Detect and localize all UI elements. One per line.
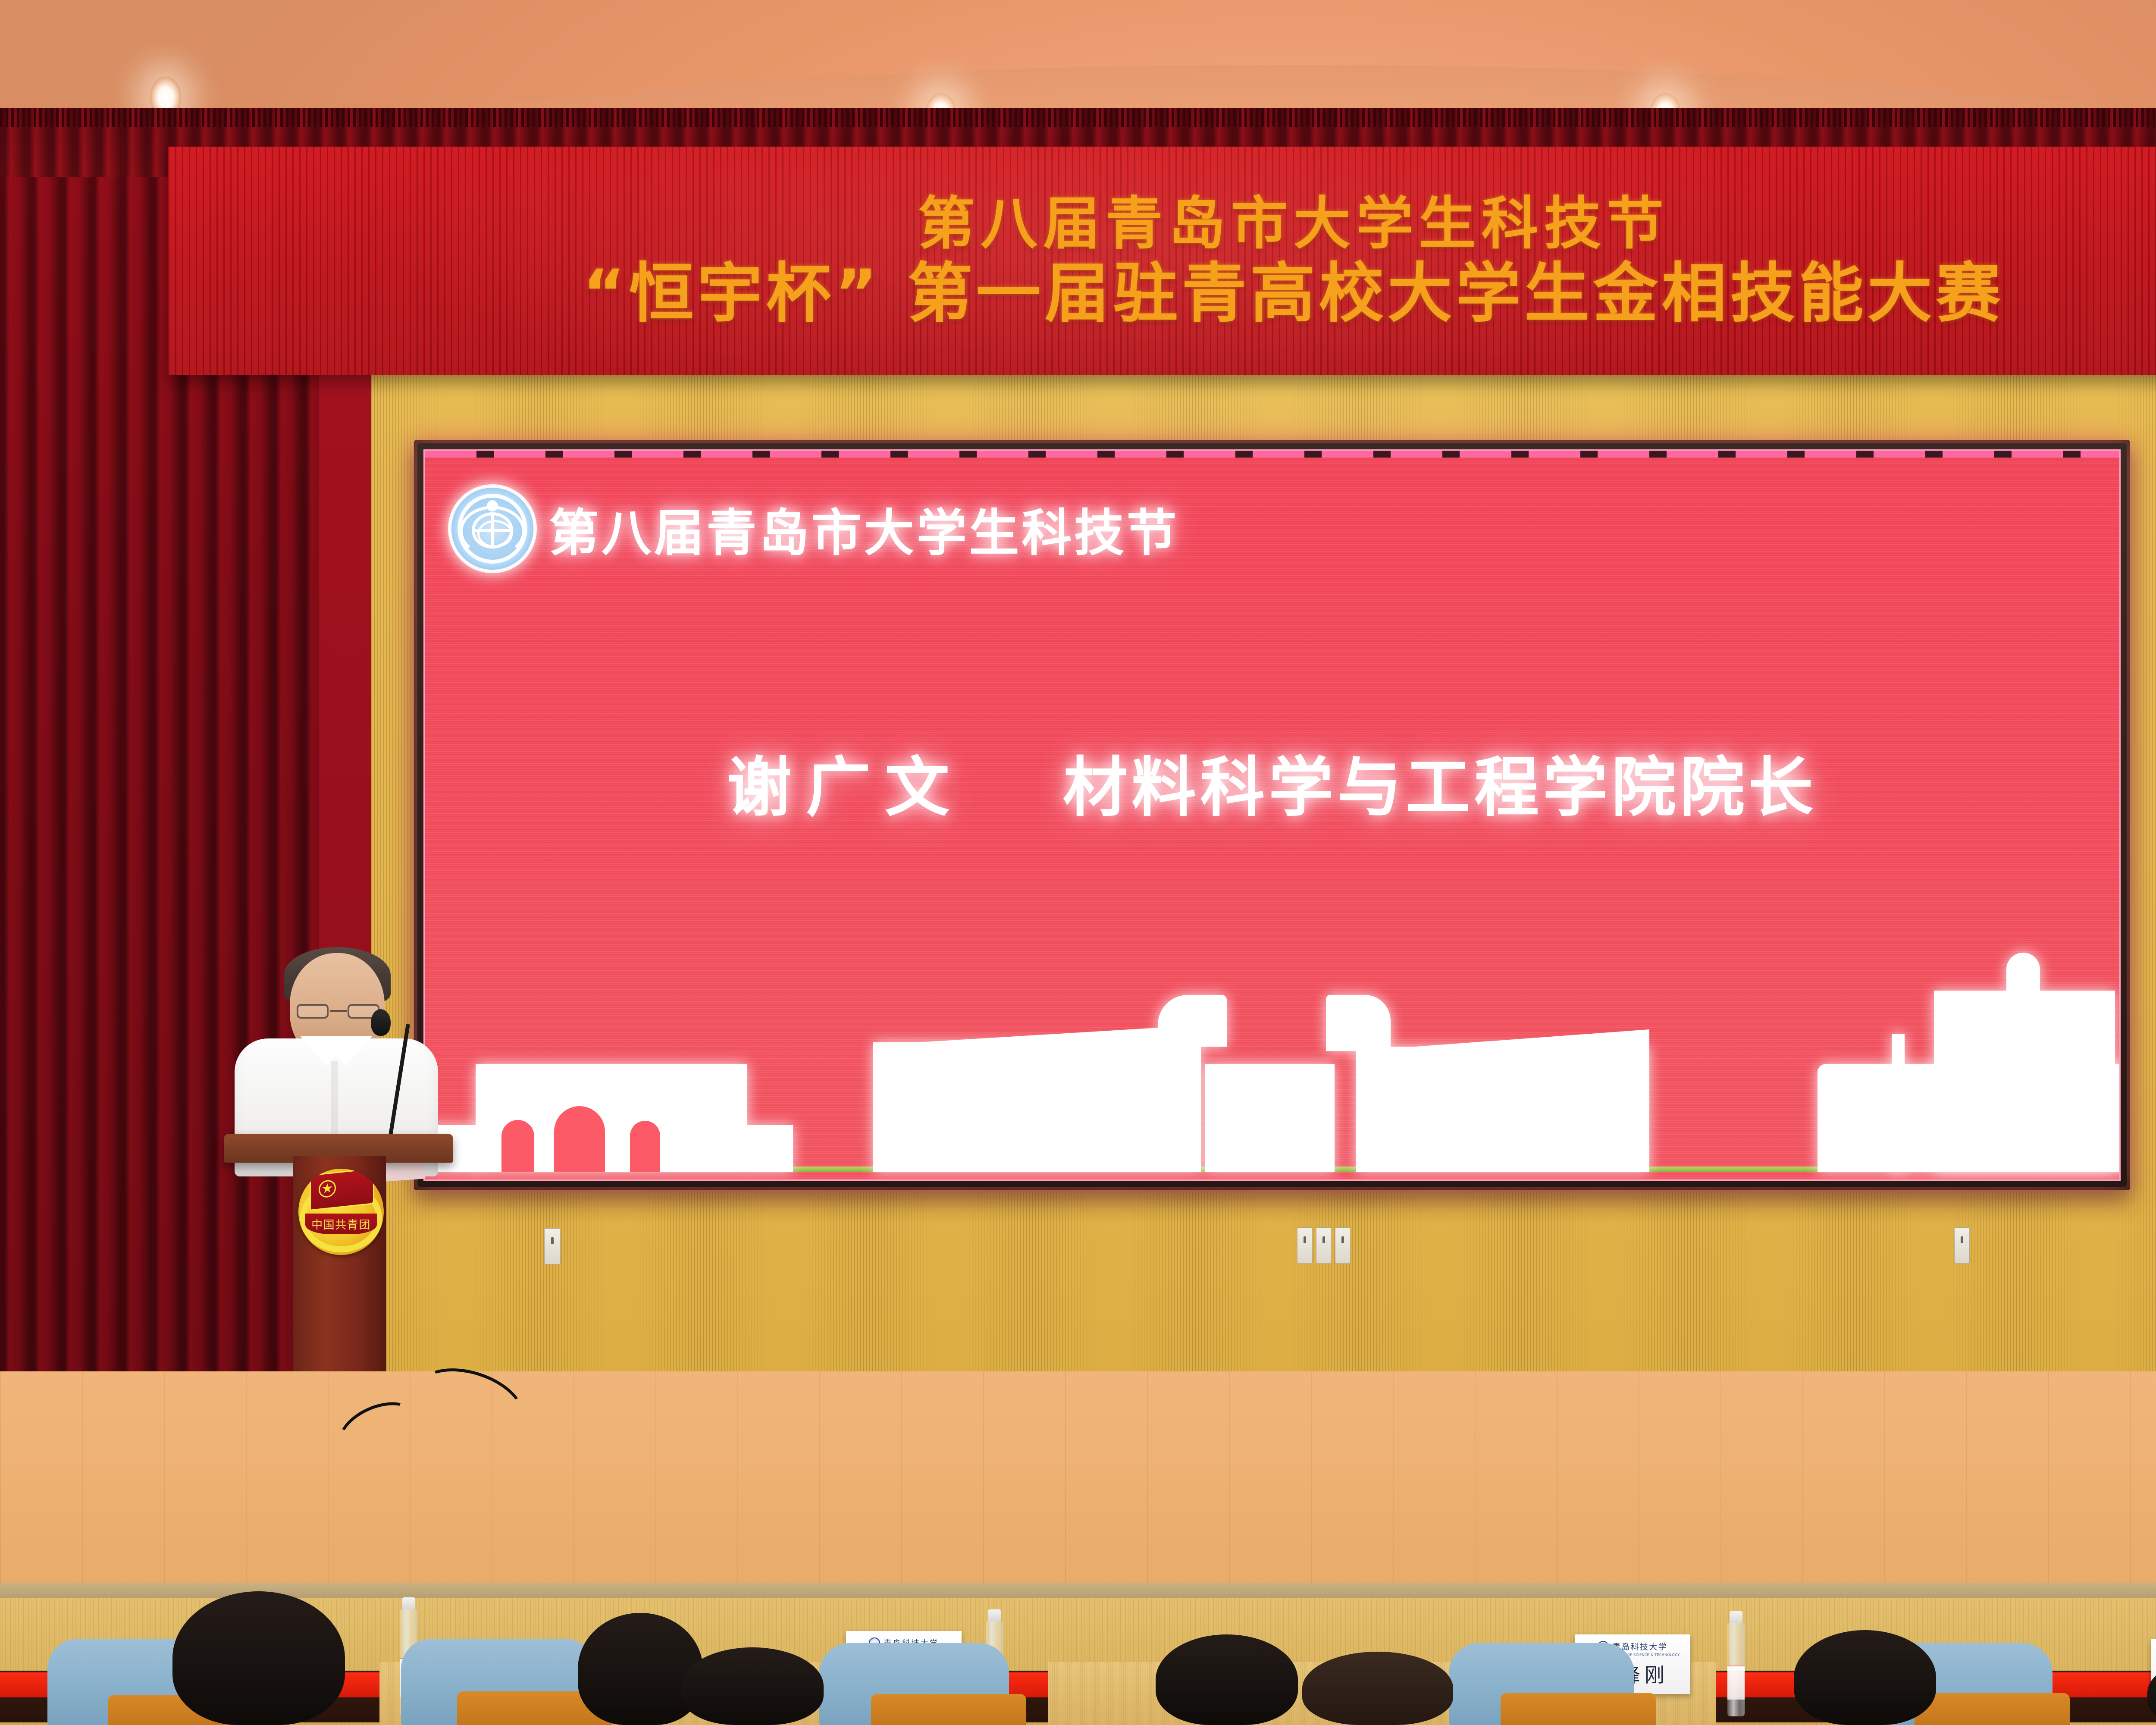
stage-floor bbox=[0, 1371, 2156, 1613]
audience-head-5 bbox=[1302, 1652, 1453, 1725]
led-header-title: 第八届青岛市大学生科技节 bbox=[549, 492, 1179, 565]
skyline-library-tower bbox=[1934, 991, 2115, 1172]
led-header: 第八届青岛市大学生科技节 bbox=[451, 488, 1179, 570]
skyline-academic-tower-1 bbox=[1158, 995, 1227, 1047]
led-top-pixel-strip bbox=[425, 451, 2119, 458]
communist-youth-league-emblem-icon: ★ 中国共青团 bbox=[298, 1169, 384, 1255]
wall-power-outlet-5 bbox=[1954, 1227, 1970, 1264]
banner-title-line-2: “恒宇杯” 第一届驻青高校大学生金相技能大赛 bbox=[583, 260, 2004, 328]
wall-power-outlet-2 bbox=[1297, 1227, 1313, 1264]
badge-star-icon: ★ bbox=[319, 1179, 336, 1198]
led-display-frame: 第八届青岛市大学生科技节 谢广文 材料科学与工程学院院长 bbox=[414, 440, 2130, 1190]
water-bottle-2 bbox=[1727, 1622, 1745, 1716]
event-banner: 第八届青岛市大学生科技节 “恒宇杯” 第一届驻青高校大学生金相技能大赛 bbox=[168, 147, 2156, 375]
audience-chair-seat-4 bbox=[1501, 1693, 1656, 1725]
audience-chair-seat-3 bbox=[871, 1694, 1026, 1725]
led-display: 第八届青岛市大学生科技节 谢广文 材料科学与工程学院院长 bbox=[423, 449, 2121, 1181]
emblem-globe-icon bbox=[472, 512, 513, 549]
skyline-library-spire bbox=[2006, 953, 2040, 991]
led-main-text: 谢广文 材料科学与工程学院院长 bbox=[425, 735, 2119, 829]
badge-banner-text: 中国共青团 bbox=[305, 1214, 377, 1234]
wall-power-outlet-3 bbox=[1316, 1227, 1332, 1264]
led-speaker-title: 材料科学与工程学院院长 bbox=[1063, 735, 1817, 829]
audience-head-6 bbox=[1794, 1630, 1936, 1725]
led-speaker-name: 谢广文 bbox=[727, 735, 964, 829]
badge-flag: ★ bbox=[310, 1169, 374, 1211]
emblem-dot bbox=[487, 500, 498, 511]
audience-head-1 bbox=[172, 1591, 345, 1725]
audience-head-3 bbox=[681, 1647, 824, 1725]
auditorium-photo: 第八届青岛市大学生科技节 “恒宇杯” 第一届驻青高校大学生金相技能大赛 第八届青… bbox=[0, 0, 2156, 1725]
campus-skyline-graphic bbox=[425, 969, 2119, 1172]
curtain-scallop-trim bbox=[0, 108, 2156, 127]
university-emblem-icon bbox=[451, 488, 533, 570]
skyline-academic-building-2 bbox=[1205, 1064, 1335, 1172]
skyline-academic-roof-1 bbox=[873, 1025, 1201, 1073]
skyline-academic-roof-2 bbox=[1356, 1029, 1649, 1073]
audience-head-2 bbox=[578, 1613, 703, 1725]
skyline-gate-arch-2 bbox=[554, 1106, 605, 1172]
audience-chair-seat-5 bbox=[1915, 1693, 2070, 1725]
wall-power-outlet-1 bbox=[544, 1228, 561, 1264]
skyline-gate-arch-1 bbox=[501, 1120, 534, 1172]
wall-power-outlet-4 bbox=[1335, 1227, 1351, 1264]
audience-head-4 bbox=[1156, 1634, 1298, 1725]
skyline-academic-tower-2 bbox=[1326, 995, 1391, 1051]
skyline-library-mast-left bbox=[1892, 1034, 1905, 1172]
microphone-icon bbox=[371, 1009, 391, 1036]
skyline-gate-wing-right bbox=[746, 1125, 793, 1172]
eyeglasses-icon bbox=[297, 1004, 379, 1019]
skyline-gate-arch-3 bbox=[630, 1121, 660, 1172]
banner-title-line-1: 第八届青岛市大学生科技节 bbox=[918, 194, 1669, 254]
